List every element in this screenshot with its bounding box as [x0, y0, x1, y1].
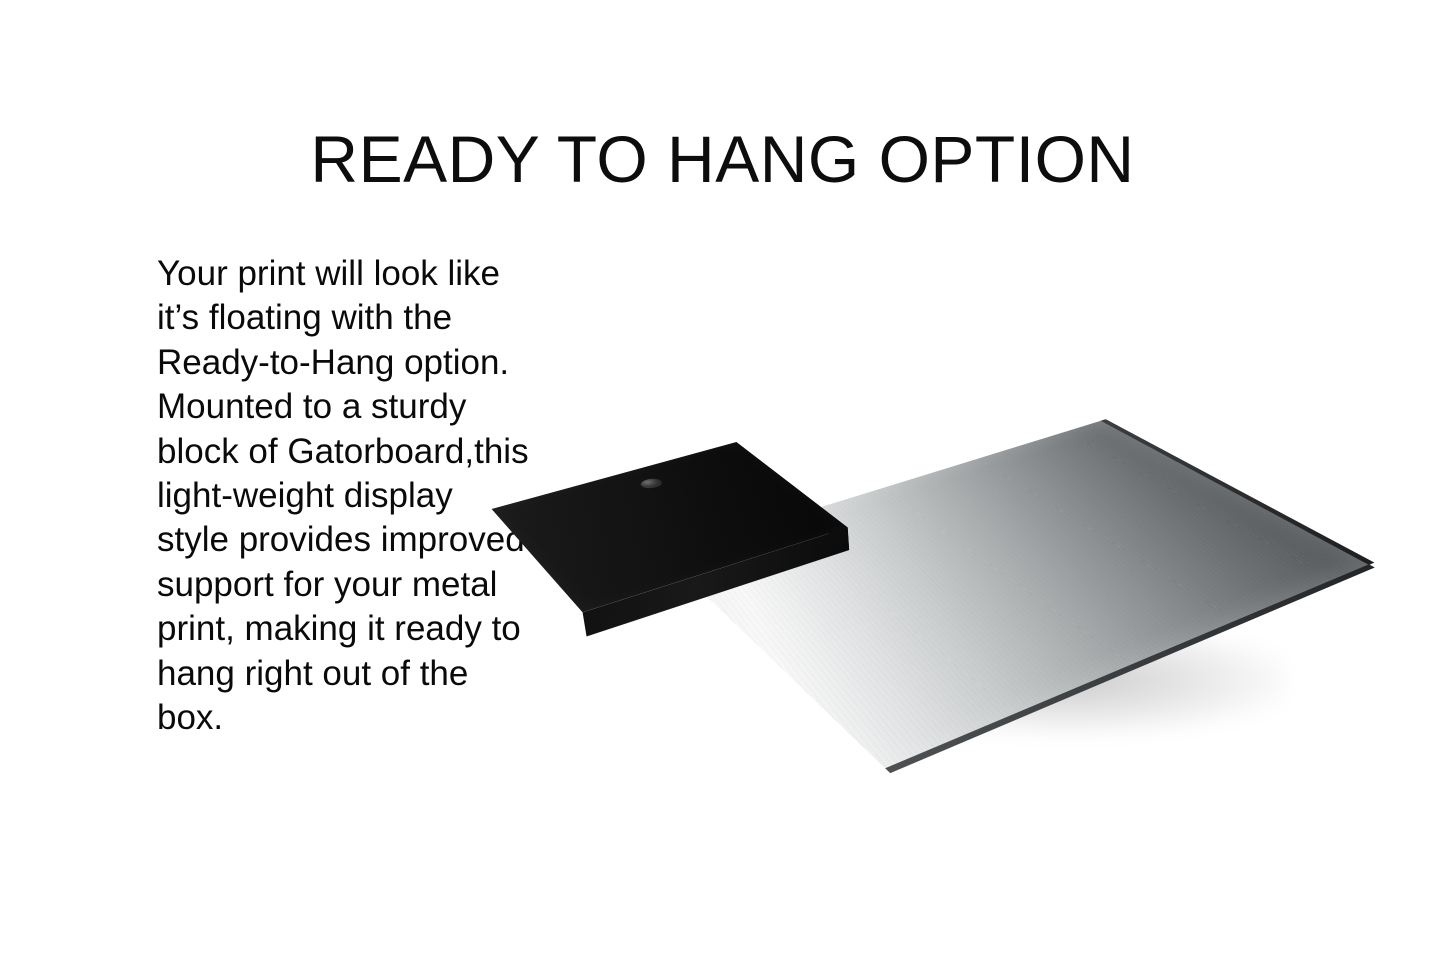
body-line: print, making it ready to	[157, 607, 557, 651]
brushed-metal-panel	[664, 421, 1370, 769]
body-line: hang right out of the	[157, 652, 557, 696]
body-line: Your print will look like	[157, 252, 557, 296]
body-line: block of Gatorboard,this	[157, 430, 557, 474]
body-line: it’s floating with the	[157, 296, 557, 340]
slide-canvas: READY TO HANG OPTION Your print will loo…	[0, 0, 1445, 963]
hanging-hole-icon	[638, 477, 665, 489]
body-line: support for your metal	[157, 563, 557, 607]
product-image	[600, 300, 1430, 820]
body-line: Mounted to a sturdy	[157, 385, 557, 429]
body-line: box.	[157, 696, 557, 740]
product-stage	[600, 300, 1430, 820]
body-copy: Your print will look like it’s floating …	[157, 252, 557, 740]
page-title: READY TO HANG OPTION	[0, 126, 1445, 192]
body-line: style provides improved	[157, 518, 557, 562]
body-line: Ready-to-Hang option.	[157, 341, 557, 385]
